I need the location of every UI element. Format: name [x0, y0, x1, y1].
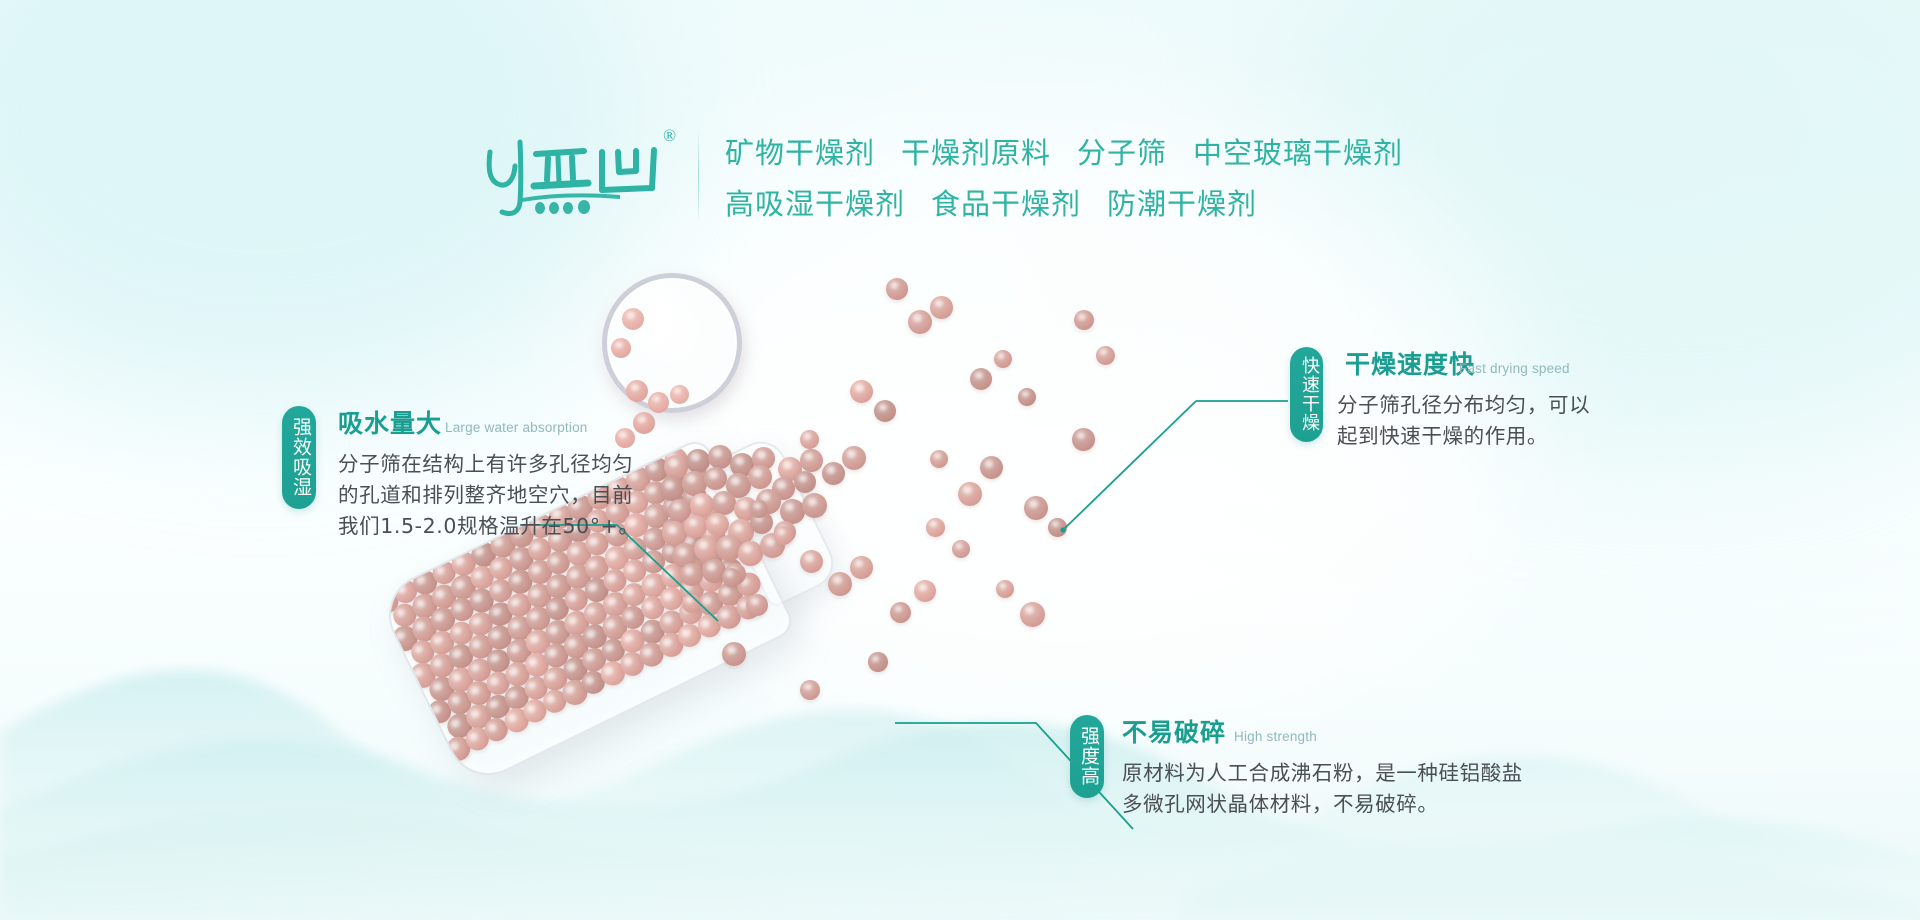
registered-trademark-icon: ®	[663, 126, 676, 146]
bead	[722, 642, 746, 666]
bead	[800, 550, 823, 573]
bead	[828, 572, 852, 596]
callout-text-block: 吸水量大 Large water absorption 分子筛在结构上有许多孔径…	[338, 404, 640, 542]
callout-body-line: 多微孔网状晶体材料，不易破碎。	[1122, 789, 1523, 820]
bead	[970, 368, 992, 390]
bead	[890, 602, 911, 623]
callout-high-strength: 强度高 不易破碎 High strength 原材料为人工合成沸石粉，是一种硅铝…	[1070, 713, 1523, 820]
bead	[850, 380, 873, 403]
bead	[850, 556, 873, 579]
nav-keyword-insulating-glass-desiccant[interactable]: 中空玻璃干燥剂	[1193, 130, 1403, 172]
bead	[930, 450, 948, 468]
nav-keyword-desiccant-raw-material[interactable]: 干燥剂原料	[901, 130, 1051, 172]
header-keyword-list: 矿物干燥剂 干燥剂原料 分子筛 中空玻璃干燥剂 高吸湿干燥剂 食品干燥剂 防潮干…	[725, 128, 1403, 223]
bead	[980, 456, 1003, 479]
header-divider	[698, 134, 699, 219]
bead	[842, 446, 866, 470]
bead	[930, 296, 953, 319]
callout-text-block: 干燥速度快 Fast drying speed 分子筛孔径分布均匀，可以 起到快…	[1337, 345, 1590, 452]
callout-heading: 吸水量大 Large water absorption	[338, 404, 640, 440]
bead	[722, 568, 741, 587]
header-keyword-row-1: 矿物干燥剂 干燥剂原料 分子筛 中空玻璃干燥剂	[725, 130, 1403, 172]
callout-body: 分子筛在结构上有许多孔径均匀 的孔道和排列整齐地空穴，目前 我们1.5-2.0规…	[338, 449, 640, 542]
callout-large-water-absorption: 强效吸湿 吸水量大 Large water absorption 分子筛在结构上…	[282, 404, 640, 542]
banner-stage: ® 矿物干燥剂 干燥剂原料 分子筛 中空玻璃干燥剂 高吸湿干燥剂 食品干燥剂 防…	[0, 0, 1920, 920]
callout-body-line: 分子筛在结构上有许多孔径均匀	[338, 449, 640, 480]
bead	[1018, 388, 1036, 406]
bead	[914, 580, 936, 602]
callout-title: 不易破碎	[1122, 713, 1226, 749]
bead	[750, 500, 768, 518]
bead	[958, 482, 982, 506]
bead	[682, 594, 701, 613]
brand-logo[interactable]: ®	[480, 128, 670, 220]
bead	[952, 540, 970, 558]
brand-header: ® 矿物干燥剂 干燥剂原料 分子筛 中空玻璃干燥剂 高吸湿干燥剂 食品干燥剂 防…	[480, 128, 1403, 223]
badge-high-strength: 强度高	[1070, 715, 1104, 798]
bead	[746, 594, 768, 616]
bead	[868, 652, 888, 672]
bead	[874, 400, 896, 422]
badge-fast-drying: 快速干燥	[1290, 347, 1323, 442]
bead	[800, 680, 820, 700]
callout-title: 干燥速度快	[1345, 345, 1475, 381]
callout-body-line: 起到快速干燥的作用。	[1337, 421, 1590, 452]
bead	[886, 278, 908, 300]
callout-body: 分子筛孔径分布均匀，可以 起到快速干燥的作用。	[1337, 390, 1590, 452]
nav-keyword-moisture-proof-desiccant[interactable]: 防潮干燥剂	[1107, 181, 1257, 223]
bead	[1020, 602, 1045, 627]
callout-title-english: High strength	[1234, 729, 1317, 744]
nav-keyword-high-absorption-desiccant[interactable]: 高吸湿干燥剂	[725, 181, 905, 223]
logo-wordmark-icon	[480, 136, 666, 220]
callout-fast-drying-speed: 快速干燥 干燥速度快 Fast drying speed 分子筛孔径分布均匀，可…	[1290, 345, 1590, 452]
callout-body: 原材料为人工合成沸石粉，是一种硅铝酸盐 多微孔网状晶体材料，不易破碎。	[1122, 758, 1523, 820]
bead	[1024, 496, 1048, 520]
bead	[1096, 346, 1115, 365]
callout-body-line: 分子筛孔径分布均匀，可以	[1337, 390, 1590, 421]
bead	[1048, 518, 1067, 537]
nav-keyword-food-desiccant[interactable]: 食品干燥剂	[931, 181, 1081, 223]
bead	[1074, 310, 1094, 330]
bead	[822, 462, 845, 485]
callout-title-english: Fast drying speed	[1459, 361, 1570, 376]
bead	[994, 350, 1012, 368]
nav-keyword-molecular-sieve[interactable]: 分子筛	[1077, 130, 1167, 172]
bead	[996, 580, 1014, 598]
bead	[908, 310, 932, 334]
nav-keyword-mineral-desiccant[interactable]: 矿物干燥剂	[725, 130, 875, 172]
callout-text-block: 不易破碎 High strength 原材料为人工合成沸石粉，是一种硅铝酸盐 多…	[1122, 713, 1523, 820]
callout-heading: 不易破碎 High strength	[1122, 713, 1523, 749]
callout-heading: 干燥速度快 Fast drying speed	[1345, 345, 1590, 381]
callout-title-english: Large water absorption	[445, 420, 588, 435]
bead	[800, 430, 819, 449]
bead	[1072, 428, 1095, 451]
header-keyword-row-2: 高吸湿干燥剂 食品干燥剂 防潮干燥剂	[725, 181, 1403, 223]
bead	[926, 518, 945, 537]
badge-strong-absorption: 强效吸湿	[282, 406, 316, 509]
bead	[774, 526, 793, 545]
callout-body-line: 我们1.5-2.0规格温升在50°+。	[338, 511, 640, 542]
callout-title: 吸水量大	[338, 404, 442, 440]
callout-body-line: 的孔道和排列整齐地空穴，目前	[338, 480, 640, 511]
callout-body-line: 原材料为人工合成沸石粉，是一种硅铝酸盐	[1122, 758, 1523, 789]
